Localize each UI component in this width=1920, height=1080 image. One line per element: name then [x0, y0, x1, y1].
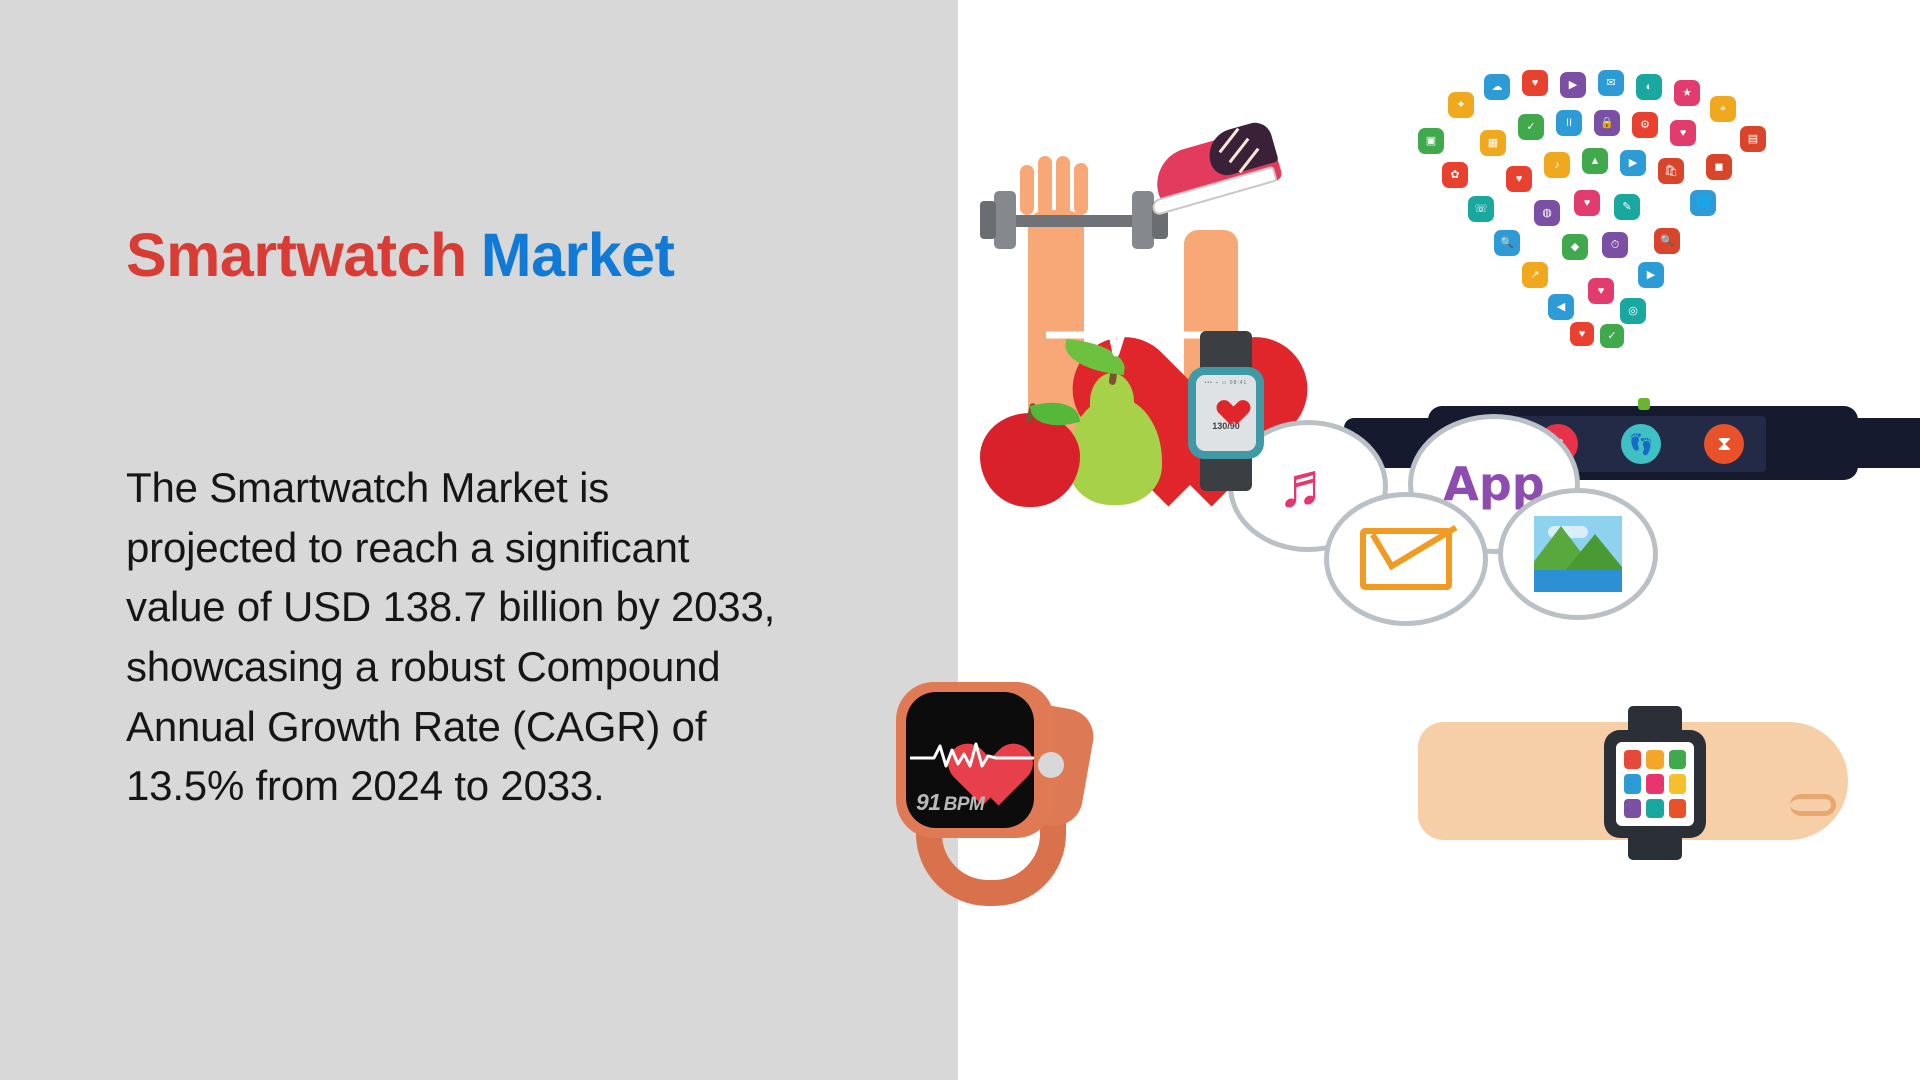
app-tile [1624, 750, 1641, 769]
app-grid-smartwatch [1604, 706, 1706, 858]
app-icon: ▶ [1638, 262, 1664, 288]
page-title: SmartwatchMarket [126, 225, 674, 286]
app-icon: ♥ [1588, 278, 1614, 304]
app-tile [1624, 774, 1641, 793]
app-tile [1669, 799, 1686, 818]
app-icon: 🌐 [1690, 190, 1716, 216]
app-icon: ♥ [1570, 322, 1594, 346]
app-icon: ⚙ [1632, 112, 1658, 138]
ecg-line-icon [910, 736, 1034, 776]
app-icon: ↗ [1522, 262, 1548, 288]
app-icon: ◍ [1534, 200, 1560, 226]
thumb-icon [1790, 794, 1836, 816]
title-word-market: Market [481, 221, 675, 289]
watch-app-grid [1616, 742, 1694, 826]
app-icon: ◆ [1562, 234, 1588, 260]
app-icon: ☁ [1484, 74, 1510, 100]
teal-smartwatch: ••• ⌁ ▭ 08:41 130/90 [1184, 331, 1268, 491]
left-text-panel: SmartwatchMarket The Smartwatch Market i… [0, 0, 958, 1080]
app-icon: ♥ [1522, 70, 1548, 96]
bpm-unit: BPM [944, 794, 985, 815]
music-note-icon: ♬ [1277, 455, 1339, 517]
app-icon: ★ [1674, 80, 1700, 106]
app-icon: ♥ [1574, 190, 1600, 216]
infographic-canvas: SmartwatchMarket The Smartwatch Market i… [0, 0, 1920, 1080]
photo-icon [1530, 512, 1626, 596]
app-icon: 🔒 [1594, 110, 1620, 136]
wrist-with-app-grid-watch [1418, 700, 1858, 880]
body-line-6: 13.5% from 2024 to 2033. [126, 756, 926, 816]
watch-crown-button[interactable] [1038, 752, 1064, 778]
app-icon: ◐ [1636, 74, 1662, 100]
app-icon: ♥ [1506, 166, 1532, 192]
app-icon: ♥ [1670, 120, 1696, 146]
app-icon: ✓ [1518, 114, 1544, 140]
band-led-indicator [1638, 398, 1650, 410]
running-shoe-icon [1154, 123, 1282, 215]
body-line-3: value of USD 138.7 billion by 2033, [126, 577, 926, 637]
app-icon: ◀ [1548, 294, 1574, 320]
app-icon: 🔍 [1654, 228, 1680, 254]
app-icon: ◼ [1706, 154, 1732, 180]
app-icon: ▦ [1480, 130, 1506, 156]
app-icon: ✎ [1614, 194, 1640, 220]
right-illustration-panel: ••• ⌁ ▭ 08:41 130/90 ▣ ✦ ☁ ♥ ▶ ✉ ◐ ★ ⌖ ▤… [958, 0, 1920, 1080]
bubble-photo [1498, 488, 1658, 620]
bpm-value: 91 [916, 789, 941, 815]
body-line-1: The Smartwatch Market is [126, 458, 926, 518]
bubble-mail [1324, 492, 1488, 626]
bpm-readout: 91BPM [916, 789, 984, 816]
envelope-icon [1360, 528, 1452, 590]
app-icon: ◎ [1620, 298, 1646, 324]
body-line-4: showcasing a robust Compound [126, 637, 926, 697]
app-tile [1669, 774, 1686, 793]
app-icon: ☏ [1468, 196, 1494, 222]
app-tile [1646, 774, 1663, 793]
teal-watch-screen: ••• ⌁ ▭ 08:41 130/90 [1196, 375, 1256, 451]
app-icon: 🔍 [1494, 230, 1520, 256]
app-icon: ▲ [1582, 148, 1608, 174]
coral-smartwatch-photo: 91BPM [880, 660, 1120, 910]
watch-screen: 91BPM [906, 692, 1034, 828]
app-icon: 🛍 [1658, 158, 1684, 184]
watch-heart-icon [1211, 390, 1241, 416]
app-icon: ✓ [1600, 324, 1624, 348]
notification-bubbles: ♬ App [1228, 420, 1848, 640]
app-icon-funnel: ▣ ✦ ☁ ♥ ▶ ✉ ◐ ★ ⌖ ▤ ✿ ▦ ✓ II 🔒 ⚙ ♥ ◼ ☏ ♥… [1398, 70, 1878, 360]
app-icon: II [1556, 110, 1582, 136]
app-icon: ✿ [1442, 162, 1468, 188]
body-line-5: Annual Growth Rate (CAGR) of [126, 697, 926, 757]
app-tile [1646, 799, 1663, 818]
title-word-smartwatch: Smartwatch [126, 221, 467, 289]
app-icon: ▶ [1560, 72, 1586, 98]
app-icon: ⏱ [1602, 232, 1628, 258]
app-tile [1624, 799, 1641, 818]
app-icon: ▤ [1740, 126, 1766, 152]
app-tile [1646, 750, 1663, 769]
app-icon: ✦ [1448, 92, 1474, 118]
app-icon: ⌖ [1710, 96, 1736, 122]
app-tile [1669, 750, 1686, 769]
app-icon: ▶ [1620, 150, 1646, 176]
app-icon: ♪ [1544, 152, 1570, 178]
dumbbell-icon [980, 203, 1168, 237]
watch-statusbar: ••• ⌁ ▭ 08:41 [1205, 380, 1248, 386]
app-icon: ✉ [1598, 70, 1624, 96]
app-icon: ▣ [1418, 128, 1444, 154]
apple-icon [980, 403, 1084, 509]
body-paragraph: The Smartwatch Market is projected to re… [126, 458, 926, 816]
body-line-2: projected to reach a significant [126, 518, 926, 578]
